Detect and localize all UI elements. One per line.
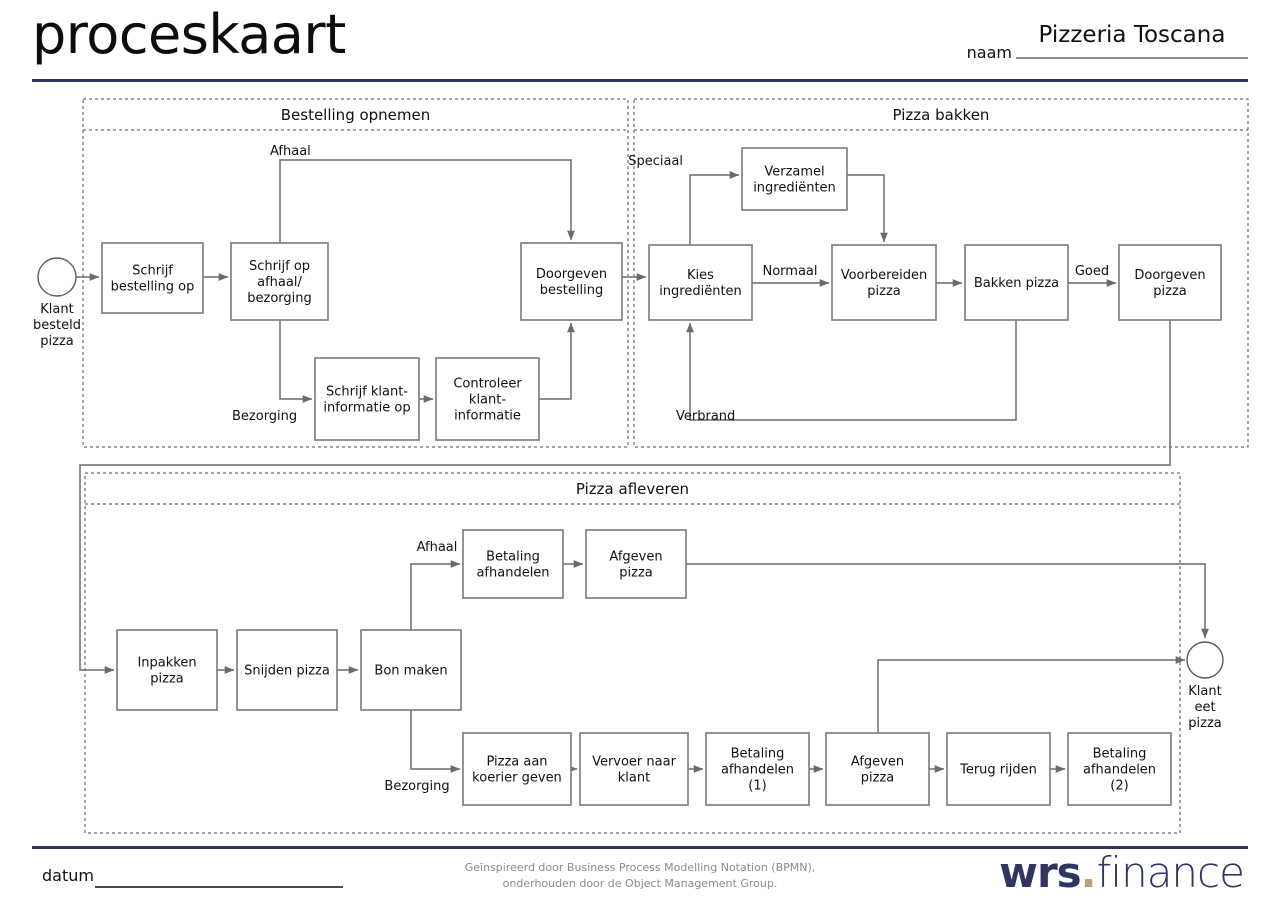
flow-afhaal-branch-to-doorgeven [280,160,571,243]
task-controleer-klantinformatie[interactable]: Controleerklant-informatie [436,358,539,440]
page-header: proceskaart naam Pizzeria Toscana [0,0,1280,92]
task-voorbereiden-pizza-label-line-1: Voorbereiden [841,268,928,283]
flow-afgeven-bezorging-to-end [878,660,1185,733]
task-verzamel-ingredienten-label-line-2: ingrediënten [753,181,836,196]
flow-doorgeven-pizza-to-inpakken [80,320,1170,670]
task-betaling-afhandelen-2-label-line-2: afhandelen [1083,763,1156,778]
task-inpakken-pizza-label-line-2: pizza [150,672,183,687]
task-bakken-pizza[interactable]: Bakken pizza [965,245,1068,320]
event-end[interactable]: Klanteetpizza [1187,642,1223,731]
pool-bestelling-opnemen-title: Bestelling opnemen [281,106,431,124]
task-schrijf-op-afhaal-bezorging-label-line-2: afhaal/ [257,275,302,290]
flow-verzamel-to-voorbereiden [847,175,884,242]
naam-field[interactable]: Pizzeria Toscana [1016,22,1248,48]
task-betaling-afhandelen-afhaal-label-line-1: Betaling [486,550,540,565]
event-start[interactable]: Klantbesteldpizza [33,258,81,349]
pools-layer: Bestelling opnemenPizza bakkenPizza afle… [83,99,1248,833]
task-schrijf-bestelling-op-label-line-2: bestelling op [111,280,195,295]
task-vervoer-naar-klant[interactable]: Vervoer naarklant [580,733,688,805]
diagram-canvas: Bestelling opnemenPizza bakkenPizza afle… [0,0,1280,904]
datum-label: datum [42,866,94,885]
task-pizza-aan-koerier-geven[interactable]: Pizza aankoerier geven [463,733,571,805]
task-betaling-afhandelen-afhaal[interactable]: Betalingafhandelen [463,530,563,598]
label-verbrand: Verbrand [676,409,735,424]
task-controleer-klantinformatie-label-line-2: klant- [469,393,506,408]
wrs-finance-logo: wrs.finance [999,852,1244,894]
flows-layer [76,160,1205,769]
pool-pizza-afleveren: Pizza afleveren [85,473,1180,833]
task-doorgeven-pizza-label-line-2: pizza [1153,284,1186,299]
label-speciaal: Speciaal [628,154,683,169]
event-start-label-line-2: besteld [33,318,81,333]
pool-pizza-afleveren-title: Pizza afleveren [576,480,689,498]
pool-pizza-bakken-title: Pizza bakken [893,106,990,124]
label-afhaal-bestelling: Afhaal [270,144,311,159]
task-voorbereiden-pizza-label-line-2: pizza [867,284,900,299]
task-afgeven-pizza-afhaal-label-line-1: Afgeven [609,550,662,565]
process-diagram: Bestelling opnemenPizza bakkenPizza afle… [0,0,1280,904]
task-vervoer-naar-klant-label-line-2: klant [618,771,650,786]
event-end-label-line-2: eet [1194,700,1215,715]
label-bezorging-afleveren: Bezorging [384,779,449,794]
label-afhaal-afleveren: Afhaal [417,540,458,555]
logo-finance-text: finance [1097,848,1244,897]
task-vervoer-naar-klant-label-line-1: Vervoer naar [592,755,677,770]
task-inpakken-pizza-label-line-1: Inpakken [137,656,196,671]
task-snijden-pizza[interactable]: Snijden pizza [237,630,337,710]
flow-afhaal-branch-to-betaling [411,564,460,630]
task-betaling-afhandelen-1-label-line-3: (1) [748,779,766,794]
flow-bezorging-branch-to-koerier [411,710,460,769]
task-doorgeven-bestelling[interactable]: Doorgevenbestelling [521,243,622,320]
task-doorgeven-bestelling-label-line-1: Doorgeven [536,267,607,282]
event-end-label-line-3: pizza [1188,716,1221,731]
task-schrijf-op-afhaal-bezorging-label-line-1: Schrijf op [249,259,310,274]
events-layer: KlantbesteldpizzaKlanteetpizza [33,258,1223,731]
flow-labels-layer: AfhaalBezorgingSpeciaalNormaalGoedVerbra… [232,144,1109,794]
event-start-label-line-3: pizza [40,334,73,349]
task-schrijf-op-afhaal-bezorging-label-line-3: bezorging [247,291,312,306]
task-schrijf-bestelling-op-label-line-1: Schrijf [132,264,173,279]
task-pizza-aan-koerier-geven-label-line-1: Pizza aan [486,755,547,770]
task-kies-ingredienten-label-line-2: ingrediënten [659,284,742,299]
flow-controleer-to-doorgeven [539,323,571,399]
credit-line-1: Geïnspireerd door Business Process Model… [380,860,900,876]
credit-line-2: onderhouden door de Object Management Gr… [380,876,900,892]
task-verzamel-ingredienten[interactable]: Verzamelingrediënten [742,148,847,210]
task-doorgeven-pizza[interactable]: Doorgevenpizza [1119,245,1221,320]
task-schrijf-klantinformatie-op-label-line-1: Schrijf klant- [326,385,408,400]
task-kies-ingredienten[interactable]: Kiesingrediënten [649,245,752,320]
page-title: proceskaart [32,8,346,62]
task-afgeven-pizza-bezorging-label-line-2: pizza [861,771,894,786]
task-betaling-afhandelen-2[interactable]: Betalingafhandelen(2) [1068,733,1171,805]
task-betaling-afhandelen-2-label-line-3: (2) [1110,779,1128,794]
task-controleer-klantinformatie-label-line-1: Controleer [453,377,522,392]
task-schrijf-bestelling-op[interactable]: Schrijfbestelling op [102,243,203,313]
pool-bestelling-opnemen: Bestelling opnemen [83,99,628,447]
task-kies-ingredienten-label-line-1: Kies [687,268,714,283]
task-betaling-afhandelen-2-label-line-1: Betaling [1093,747,1147,762]
label-normaal: Normaal [762,264,817,279]
task-inpakken-pizza[interactable]: Inpakkenpizza [117,630,217,710]
task-afgeven-pizza-afhaal[interactable]: Afgevenpizza [586,530,686,598]
task-schrijf-klantinformatie-op[interactable]: Schrijf klant-informatie op [315,358,419,440]
tasks-layer: Schrijfbestelling opSchrijf opafhaal/bez… [102,148,1221,805]
task-afgeven-pizza-bezorging-label-line-1: Afgeven [851,755,904,770]
datum-field-underline[interactable] [95,886,343,888]
task-betaling-afhandelen-1-label-line-2: afhandelen [721,763,794,778]
proceskaart-page: proceskaart naam Pizzeria Toscana Bestel… [0,0,1280,904]
task-terug-rijden[interactable]: Terug rijden [947,733,1050,805]
label-goed: Goed [1075,264,1109,279]
task-verzamel-ingredienten-label-line-1: Verzamel [764,165,824,180]
flow-afgeven-afhaal-to-end [686,564,1205,638]
task-afgeven-pizza-bezorging[interactable]: Afgevenpizza [826,733,929,805]
task-bakken-pizza-label-line-1: Bakken pizza [974,276,1059,291]
task-betaling-afhandelen-1-label-line-1: Betaling [731,747,785,762]
flow-bezorging-branch-to-klantinfo [280,320,312,399]
task-afgeven-pizza-afhaal-label-line-2: pizza [619,566,652,581]
task-schrijf-klantinformatie-op-label-line-2: informatie op [323,401,410,416]
naam-underline [1016,57,1248,59]
logo-wrs-text: wrs [999,848,1081,897]
task-bon-maken[interactable]: Bon maken [361,630,461,710]
header-divider [32,79,1248,82]
task-bon-maken-label-line-1: Bon maken [374,664,447,679]
task-voorbereiden-pizza[interactable]: Voorbereidenpizza [832,245,936,320]
task-schrijf-op-afhaal-bezorging[interactable]: Schrijf opafhaal/bezorging [231,243,328,320]
task-betaling-afhandelen-afhaal-label-line-2: afhandelen [476,566,549,581]
task-terug-rijden-label-line-1: Terug rijden [959,763,1037,778]
task-controleer-klantinformatie-label-line-3: informatie [454,409,521,424]
task-betaling-afhandelen-1[interactable]: Betalingafhandelen(1) [706,733,809,805]
task-snijden-pizza-label-line-1: Snijden pizza [244,664,330,679]
flow-verbrand-loop-to-kies [690,320,1016,420]
task-doorgeven-pizza-label-line-1: Doorgeven [1134,268,1205,283]
event-start-label-line-1: Klant [40,302,73,317]
credit-note: Geïnspireerd door Business Process Model… [380,860,900,892]
logo-dot: . [1081,848,1097,897]
label-bezorging-bestelling: Bezorging [232,409,297,424]
task-doorgeven-bestelling-label-line-2: bestelling [540,283,603,298]
naam-label: naam [967,43,1012,62]
task-pizza-aan-koerier-geven-label-line-2: koerier geven [472,771,562,786]
event-end-label-line-1: Klant [1188,684,1221,699]
flow-speciaal-branch-to-verzamel [690,175,739,245]
pool-pizza-bakken: Pizza bakken [634,99,1248,447]
